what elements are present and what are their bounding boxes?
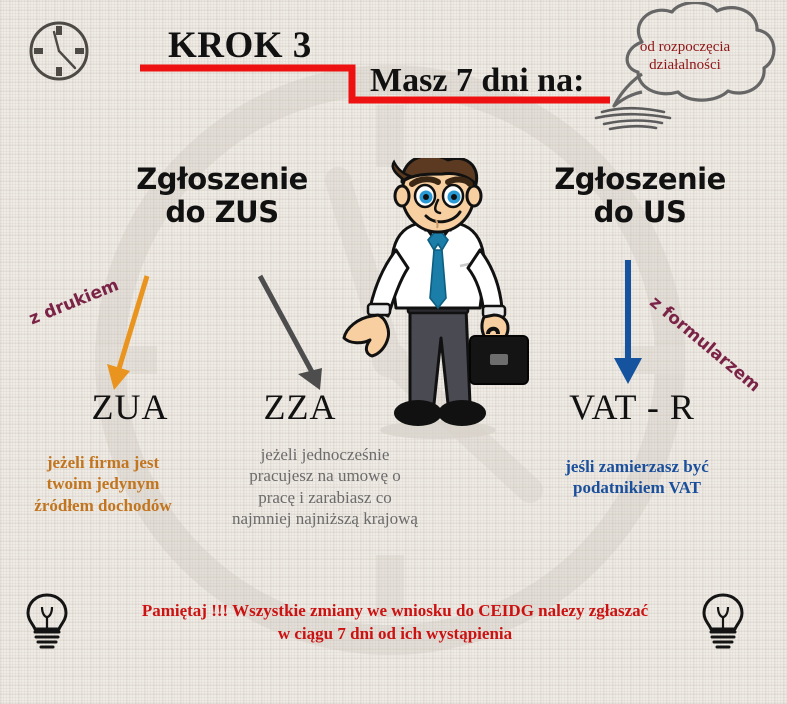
speech-bubble: od rozpoczęcia działalności: [580, 2, 787, 132]
lightbulb-icon-left: [24, 592, 70, 650]
bubble-line-2: działalności: [649, 57, 721, 73]
desc-zua-line3: źródłem dochodów: [8, 495, 198, 516]
label-z-drukiem: z drukiem: [26, 275, 121, 329]
form-code-vat-r: VAT - R: [512, 386, 752, 428]
description-zua: jeżeli firma jest twoim jedynym źródłem …: [8, 452, 198, 516]
label-z-formularzem: z formularzem: [646, 292, 765, 396]
arrow-to-zza: [250, 272, 330, 397]
bubble-line-1: od rozpoczęcia: [640, 39, 730, 55]
footer-warning-note: Pamiętaj !!! Wszystkie zmiany we wniosku…: [90, 600, 700, 646]
desc-zza-line1: jeżeli jednocześnie: [190, 444, 460, 465]
desc-vat-line1: jeśli zamierzasz być: [512, 456, 762, 477]
page-subtitle-deadline: Masz 7 dni na:: [370, 62, 584, 100]
desc-zza-line2: pracujesz na umowę o: [190, 465, 460, 486]
heading-us: Zgłoszenie do US: [500, 163, 780, 229]
desc-zza-line3: pracę i zarabiasz co: [190, 487, 460, 508]
desc-zza-line4: najmniej najniższą krajową: [190, 508, 460, 529]
footer-note-line1: Pamiętaj !!! Wszystkie zmiany we wniosku…: [90, 600, 700, 623]
heading-us-line2: do US: [594, 195, 687, 229]
heading-us-line1: Zgłoszenie: [554, 162, 726, 196]
infographic-canvas: KROK 3 Masz 7 dni na: od rozpoczęcia dzi…: [0, 0, 787, 704]
clock-icon: [26, 18, 92, 84]
description-vat-r: jeśli zamierzasz być podatnikiem VAT: [512, 456, 762, 499]
arrow-to-vat-r: [608, 258, 648, 388]
heading-zus-line1: Zgłoszenie: [136, 162, 308, 196]
lightbulb-icon-right: [700, 592, 746, 650]
businessman-illustration: [338, 158, 538, 443]
footer-note-line2: w ciągu 7 dni od ich wystąpienia: [90, 623, 700, 646]
desc-vat-line2: podatnikiem VAT: [512, 477, 762, 498]
desc-zua-line1: jeżeli firma jest: [8, 452, 198, 473]
description-zza: jeżeli jednocześnie pracujesz na umowę o…: [190, 444, 460, 529]
page-title-step: KROK 3: [168, 24, 312, 67]
heading-zus: Zgłoszenie do ZUS: [82, 163, 362, 229]
speech-bubble-text: od rozpoczęcia działalności: [610, 38, 760, 75]
heading-zus-line2: do ZUS: [165, 195, 278, 229]
desc-zua-line2: twoim jedynym: [8, 473, 198, 494]
